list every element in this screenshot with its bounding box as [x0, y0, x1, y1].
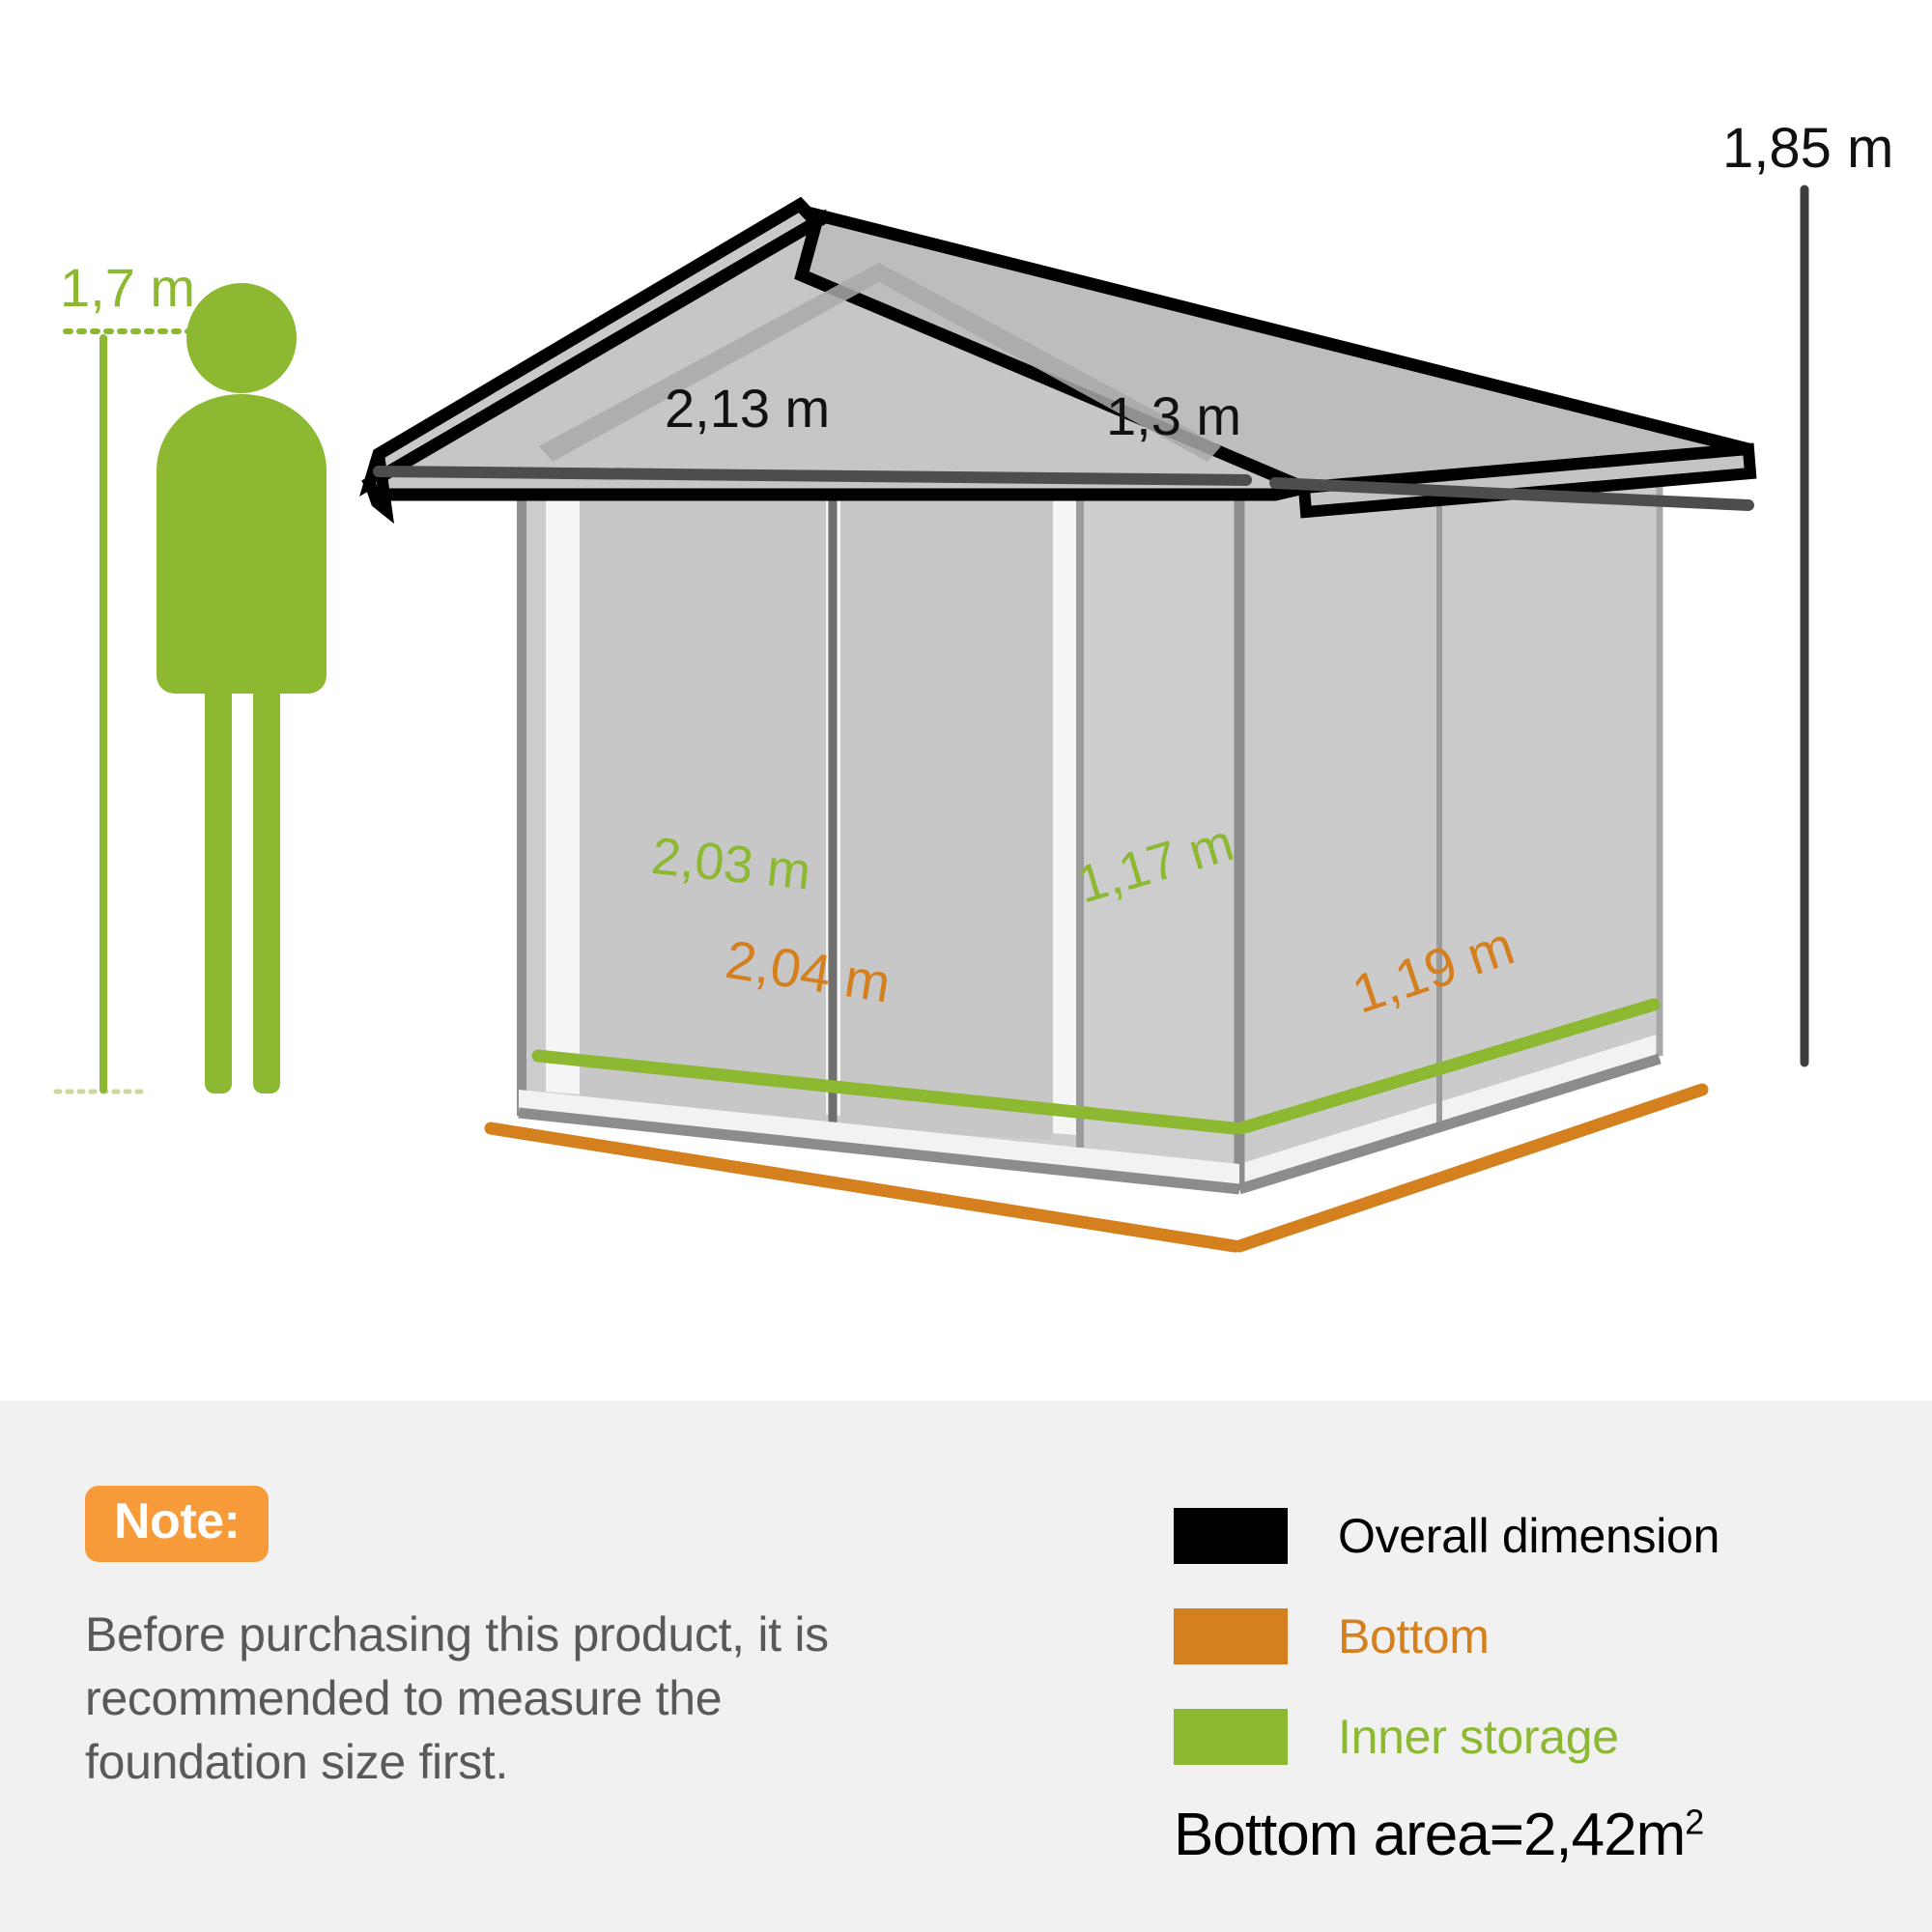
shed-door-right	[840, 483, 1053, 1140]
note-block: Note: Before purchasing this product, it…	[85, 1486, 974, 1794]
legend-item-overall-dimension: Overall dimension	[1174, 1486, 1908, 1586]
person-height-label: 1,7 m	[60, 256, 195, 319]
overall-height-label: 1,85 m	[1722, 116, 1893, 181]
diagram-area: 1,7 m 1,85 m 2,13 m 1,3 m 2,03 m 1,17 m …	[0, 0, 1932, 1401]
person-reference-group	[56, 283, 327, 1094]
overall-depth-label: 1,3 m	[1106, 384, 1241, 447]
legend-item-inner-storage: Inner storage	[1174, 1687, 1908, 1787]
legend-swatch-overall-dimension	[1174, 1508, 1288, 1564]
legend-swatch-bottom	[1174, 1608, 1288, 1664]
person-pictogram	[156, 283, 327, 1094]
roof-left-eave	[370, 454, 386, 510]
info-panel: Note: Before purchasing this product, it…	[0, 1401, 1932, 1932]
legend-label-overall-dimension: Overall dimension	[1338, 1512, 1719, 1560]
note-badge: Note:	[85, 1486, 269, 1562]
bottom-area-value: Bottom area=2,42m	[1174, 1802, 1685, 1868]
legend-swatch-inner-storage	[1174, 1709, 1288, 1765]
legend-item-bottom: Bottom	[1174, 1586, 1908, 1687]
shed-door-left	[580, 483, 826, 1127]
overall-width-label: 2,13 m	[665, 377, 830, 440]
shed-diagram	[0, 0, 1932, 1401]
legend: Overall dimension Bottom Inner storage B…	[1174, 1486, 1908, 1869]
note-text: Before purchasing this product, it is re…	[85, 1603, 954, 1794]
legend-label-bottom: Bottom	[1338, 1612, 1490, 1661]
legend-label-inner-storage: Inner storage	[1338, 1713, 1619, 1761]
bottom-area-text: Bottom area=2,42m2	[1174, 1801, 1908, 1869]
shed-dimension-infographic: 1,7 m 1,85 m 2,13 m 1,3 m 2,03 m 1,17 m …	[0, 0, 1932, 1932]
bottom-area-exponent: 2	[1685, 1802, 1703, 1841]
